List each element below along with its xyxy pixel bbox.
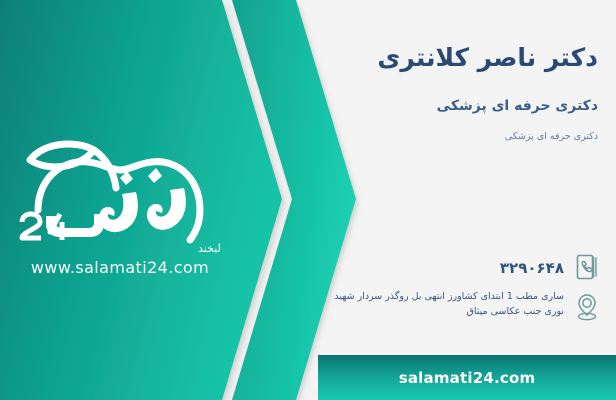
- doctor-name: دکتر ناصر کلانتری: [308, 42, 598, 73]
- logo-tagline: به راحتی یک لبخند: [198, 242, 223, 255]
- phone-book-icon: [572, 250, 602, 284]
- logo-website: www.salamati24.com: [31, 258, 209, 277]
- map-pin-icon: [572, 290, 602, 324]
- address-row[interactable]: ساری مطب 1 ابتدای کشاورز انتهی بل روگذر …: [312, 290, 602, 324]
- footer-bar[interactable]: salamati24.com: [318, 355, 616, 400]
- footer-website: salamati24.com: [399, 369, 536, 387]
- address-text: ساری مطب 1 ابتدای کشاورز انتهی بل روگذر …: [312, 290, 564, 319]
- logo-svg: به راحتی یک لبخند www.salamati24.com: [8, 118, 223, 278]
- specialty-secondary: دکتری حرفه ای پزشکی: [308, 131, 598, 143]
- phone-number: ۳۲۹۰۶۴۸: [312, 257, 564, 277]
- content-column: دکتر ناصر کلانتری دکتری حرفه ای پزشکی دک…: [300, 0, 616, 400]
- specialty-primary: دکتری حرفه ای پزشکی: [308, 97, 598, 115]
- business-card: به راحتی یک لبخند www.salamati24.com دکت…: [0, 0, 616, 400]
- logo: به راحتی یک لبخند www.salamati24.com: [8, 118, 223, 278]
- phone-row[interactable]: ۳۲۹۰۶۴۸: [312, 250, 602, 284]
